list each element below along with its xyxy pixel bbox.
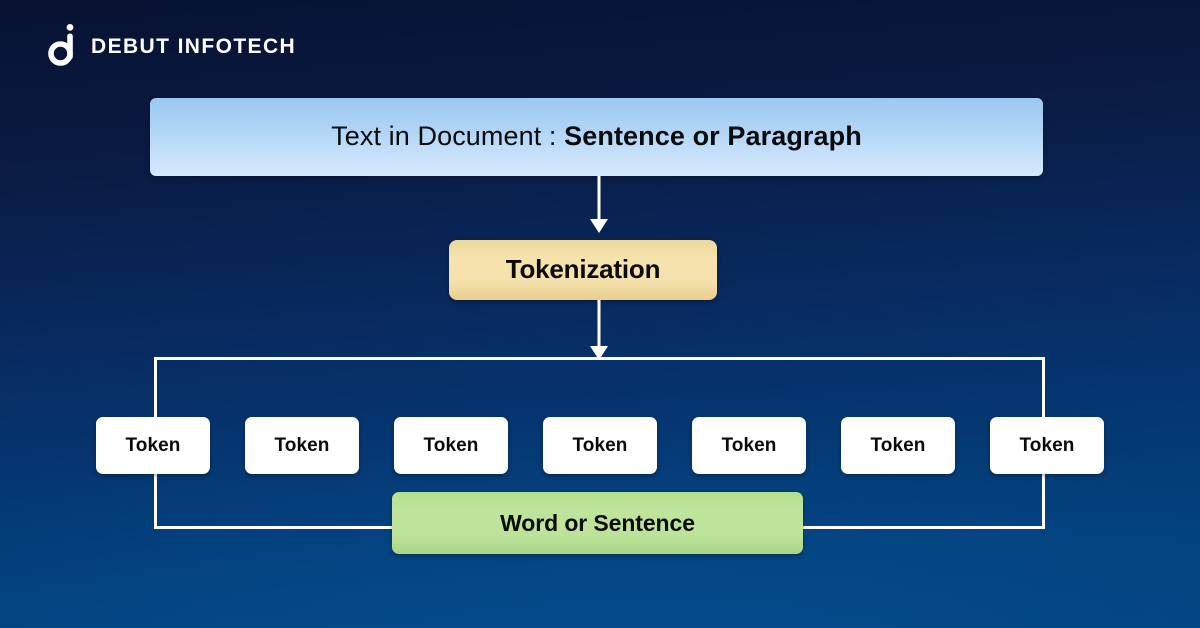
bracket-top-line [154,357,1045,360]
token-box: Token [96,417,210,474]
token-box: Token [543,417,657,474]
document-node-label-bold: Sentence or Paragraph [564,121,862,151]
document-node: Text in Document : Sentence or Paragraph [150,98,1043,176]
result-node: Word or Sentence [392,492,803,554]
token-box: Token [692,417,806,474]
document-node-label: Text in Document : Sentence or Paragraph [331,121,862,152]
token-box: Token [245,417,359,474]
document-node-label-regular: Text in Document : [331,121,564,151]
brand-logo: DEBUT INFOTECH [48,24,296,68]
tokenization-node: Tokenization [449,240,717,300]
token-box-label: Token [572,435,627,457]
token-box-label: Token [274,435,329,457]
arrow-shaft [598,300,601,348]
token-box-label: Token [721,435,776,457]
token-box-label: Token [125,435,180,457]
token-box: Token [990,417,1104,474]
token-box-label: Token [870,435,925,457]
token-box: Token [394,417,508,474]
diagram-canvas: DEBUT INFOTECH Text in Document : Senten… [0,0,1200,628]
token-box-label: Token [423,435,478,457]
result-node-label: Word or Sentence [500,510,695,536]
arrow-head-icon [590,219,608,233]
debut-infotech-d-monogram-icon [48,24,78,68]
brand-name: DEBUT INFOTECH [91,36,296,57]
connector-document-to-tokenization [589,176,609,233]
arrow-shaft [598,176,601,221]
tokenization-node-label: Tokenization [506,255,661,285]
token-box-label: Token [1019,435,1074,457]
token-box: Token [841,417,955,474]
connector-tokenization-to-tokens [589,300,609,360]
